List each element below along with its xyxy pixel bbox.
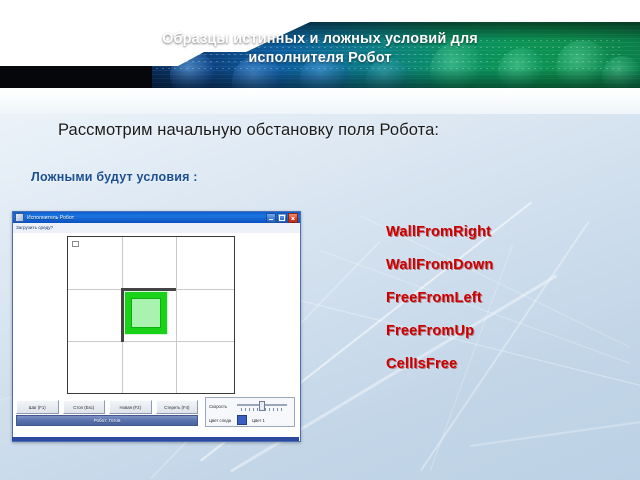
page-title-line2: исполнителя Робот [60,49,580,68]
window-titlebar[interactable]: Исполнитель Робот [13,212,300,223]
status-bar: Робот: Готов [16,415,198,426]
false-conditions-list: WallFromRight WallFromDown FreeFromLeft … [386,224,606,389]
erase-button[interactable]: Стереть (F4) [156,400,199,414]
false-conditions-label: Ложными будут условия : [31,170,198,184]
window-title: Исполнитель Робот [27,215,74,221]
close-icon[interactable] [288,213,298,223]
speed-setting-row: Скорость [209,401,293,411]
trace-color-label: Цвет следа [209,418,237,423]
slide-canvas: Образцы истинных и ложных условий для ис… [0,0,640,480]
page-title-line2-bold: Робот [348,50,391,66]
window-bottom-accent [12,437,299,441]
condition-item: FreeFromUp [386,323,606,339]
banner-bottom-block [0,66,152,88]
menu-item-load-environment[interactable]: Загрузить среду? [16,225,53,231]
stop-button[interactable]: Стоп (Esc) [63,400,106,414]
toolbar-buttons: Шаг (F1) Стоп (Esc) Новая (F2) Стереть (… [16,400,198,412]
top-white-margin [0,0,640,22]
trace-color-value: Цвет 1 [252,418,265,423]
robot-marker-inner [131,298,161,328]
slider-thumb[interactable] [259,401,265,411]
robot-marker[interactable] [124,291,168,335]
speed-slider[interactable] [237,401,287,411]
robot-simulator-window: Исполнитель Робот Загрузить среду? [12,211,301,442]
condition-item: FreeFromLeft [386,290,606,306]
new-button[interactable]: Новая (F2) [109,400,152,414]
page-title: Образцы истинных и ложных условий для ис… [60,30,580,68]
speed-label: Скорость [209,404,237,409]
window-controls [266,213,298,223]
cell-marker-icon [72,241,79,247]
settings-panel: Скорость Цвет следа Цвет 1 [205,397,295,427]
step-button[interactable]: Шаг (F1) [16,400,59,414]
application-icon [15,213,24,222]
trace-color-row: Цвет следа Цвет 1 [209,415,293,425]
page-title-line1: Образцы истинных и ложных условий для [60,30,580,49]
maximize-icon[interactable] [277,213,287,223]
condition-item: WallFromRight [386,224,606,240]
grid-line-vertical [176,237,177,393]
banner-underline-strip [0,88,640,114]
main-heading: Рассмотрим начальную обстановку поля Роб… [58,121,598,140]
robot-field[interactable] [67,236,235,394]
page-title-line2-prefix: исполнителя [248,50,348,66]
condition-item: CellIsFree [386,356,606,372]
window-client-area: Шаг (F1) Стоп (Esc) Новая (F2) Стереть (… [13,233,300,441]
minimize-icon[interactable] [266,213,276,223]
color-swatch[interactable] [237,415,247,425]
title-banner: Образцы истинных и ложных условий для ис… [0,22,640,88]
grid-line-horizontal [68,341,234,342]
condition-item: WallFromDown [386,257,606,273]
